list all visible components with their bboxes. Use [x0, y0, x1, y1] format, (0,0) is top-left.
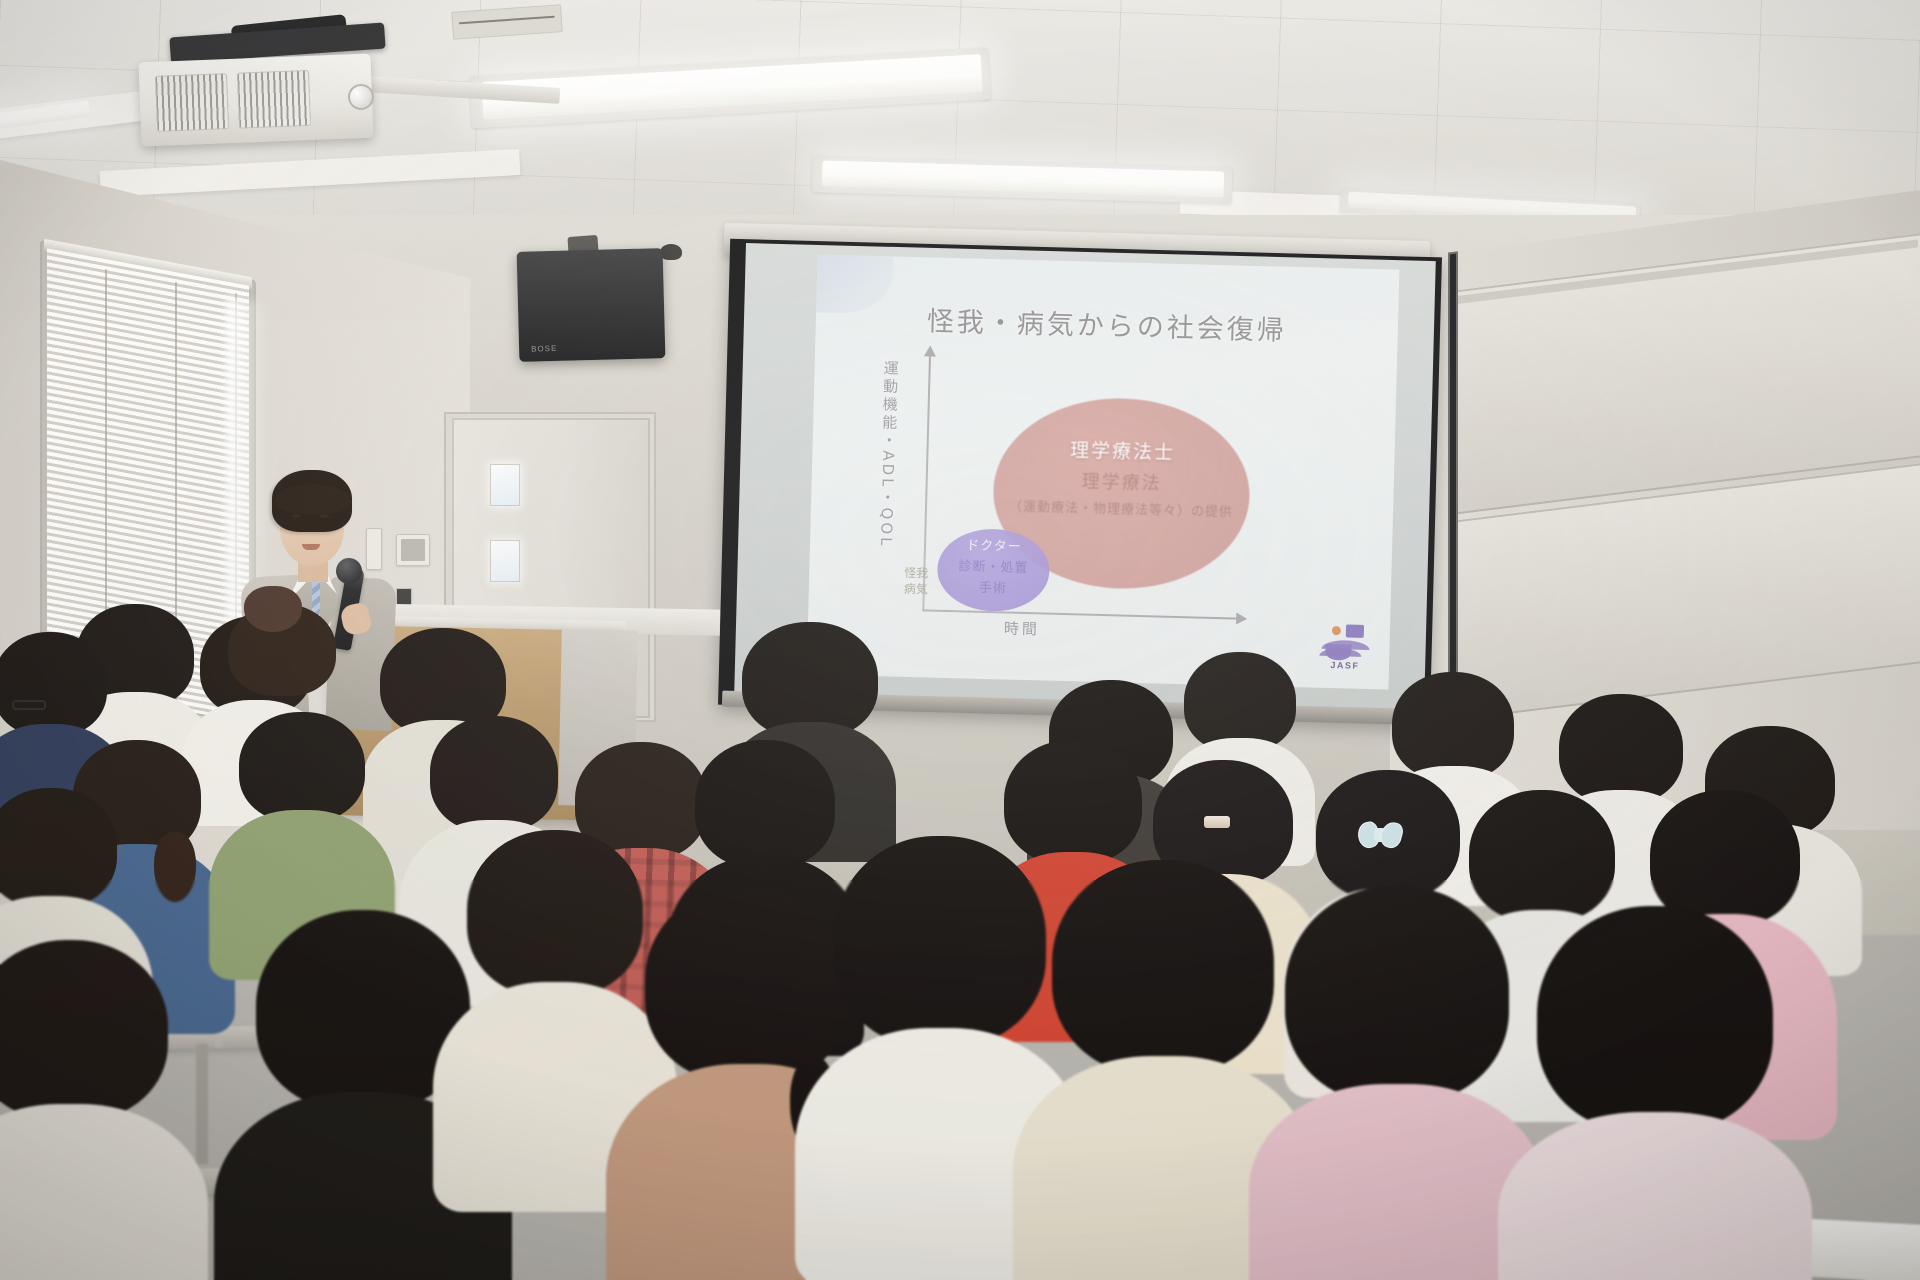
student-head — [645, 886, 851, 1082]
hair-bow-knot — [1374, 828, 1386, 842]
hair-bun — [244, 586, 302, 632]
student-head — [834, 836, 1046, 1046]
student-head — [742, 622, 878, 738]
origin-label: 怪我 病気 — [893, 565, 940, 599]
origin-label-line-2: 病気 — [893, 581, 939, 598]
student-head — [1285, 886, 1509, 1102]
pt-ellipse-line-1: 理学療法士 — [994, 433, 1251, 467]
x-axis-label: 時間 — [1004, 617, 1041, 639]
projector — [138, 54, 373, 147]
student-head — [1184, 652, 1296, 752]
speaker-brand-label: BOSE — [531, 344, 557, 354]
student-head — [1537, 906, 1773, 1132]
projector-lens — [347, 83, 374, 110]
pt-ellipse-line-3: （運動療法・物理療法等々）の提供 — [979, 495, 1263, 521]
list-item — [0, 940, 180, 1280]
student-body — [1498, 1112, 1812, 1280]
whiteboard-edge — [1448, 251, 1458, 702]
student-head — [430, 716, 558, 832]
list-item — [1530, 906, 1780, 1280]
doctor-ellipse-line-1: ドクター — [938, 534, 1050, 556]
student-head — [695, 740, 835, 868]
student-body — [0, 1104, 208, 1280]
logo-sun-icon — [1332, 626, 1341, 635]
glasses-icon — [12, 700, 46, 710]
origin-label-line-1: 怪我 — [893, 565, 939, 582]
list-item — [460, 830, 650, 1160]
lecture-room-photo: BOSE 怪我・病気からの社会復帰 運動機能・ADL・QOL 時間 理学療法士 … — [0, 0, 1920, 1280]
projector-vent-left — [155, 73, 229, 132]
door-vision-panel-1 — [490, 464, 520, 506]
doctor-ellipse: ドクター 診断・処置 手術 — [936, 528, 1050, 613]
x-axis — [922, 609, 1238, 619]
doctor-ellipse-line-2: 診断・処置 — [937, 555, 1049, 577]
student-head — [467, 830, 643, 996]
list-item — [232, 712, 372, 942]
presenter-eye-right — [320, 514, 329, 518]
student-head — [239, 712, 365, 822]
presenter-eye-left — [292, 514, 301, 518]
student-head — [1052, 860, 1274, 1074]
student-head — [0, 940, 168, 1120]
wall-speaker: BOSE — [517, 248, 666, 362]
doctor-ellipse-line-3: 手術 — [937, 576, 1049, 598]
slide-title: 怪我・病気からの社会復帰 — [815, 296, 1398, 350]
jasf-logo: JASF — [1317, 624, 1374, 681]
wall-control-panel[interactable] — [396, 534, 430, 566]
ceiling-sensor — [660, 244, 682, 260]
desk-leg-left — [196, 1044, 208, 1164]
jasf-logo-mark — [1319, 624, 1372, 661]
hair-bow-accessory — [1358, 822, 1402, 848]
pt-ellipse-line-2: 理学療法 — [993, 465, 1250, 498]
jasf-logo-text: JASF — [1317, 660, 1373, 671]
wall-control-panel-face — [401, 539, 425, 561]
y-axis-label: 運動機能・ADL・QOL — [876, 360, 902, 549]
student-head — [0, 632, 107, 736]
presenter-hair-front — [276, 484, 350, 514]
list-item — [1282, 886, 1512, 1280]
handout-paper-2[interactable] — [1809, 1219, 1920, 1280]
list-item — [1048, 860, 1278, 1280]
student-head — [1559, 694, 1683, 804]
projector-vent-right — [237, 70, 311, 129]
student-head — [1392, 672, 1514, 780]
door-vision-panel-2 — [490, 540, 520, 582]
hairclip-accessory — [1204, 816, 1230, 828]
student-head — [0, 788, 117, 908]
projected-slide: 怪我・病気からの社会復帰 運動機能・ADL・QOL 時間 理学療法士 理学療法 … — [807, 254, 1400, 689]
logo-flag-icon — [1346, 624, 1364, 637]
ponytail — [154, 832, 196, 902]
